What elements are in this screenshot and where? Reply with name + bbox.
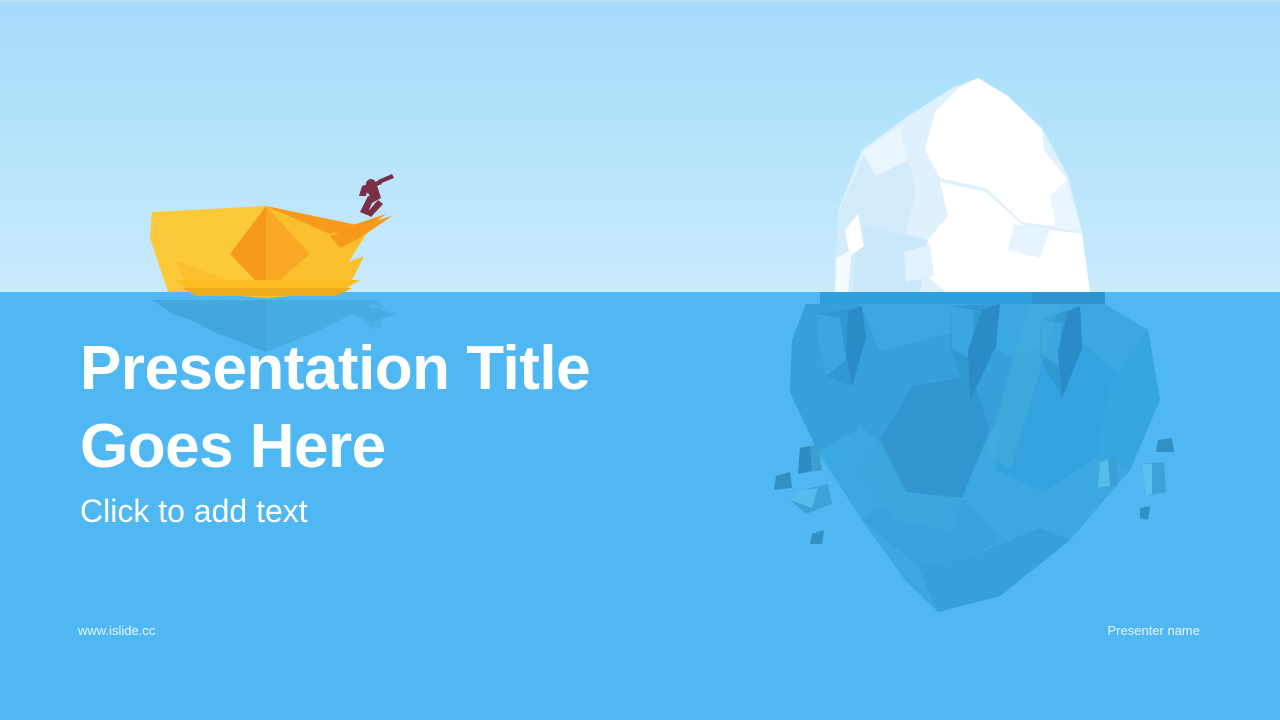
paper-boat [150, 206, 392, 298]
slide-title[interactable]: Presentation Title Goes Here [80, 330, 720, 486]
slide-subtitle-placeholder[interactable]: Click to add text [80, 491, 308, 531]
footer-presenter-name[interactable]: Presenter name [1108, 622, 1201, 640]
iceberg-waterline-shadow [820, 292, 1105, 304]
iceberg-below-water [790, 304, 1160, 612]
footer-website[interactable]: www.islide.cc [78, 622, 155, 640]
lookout-figure [359, 174, 394, 217]
iceberg-above-water [835, 78, 1090, 292]
presentation-slide: Presentation Title Goes Here Click to ad… [0, 0, 1280, 720]
